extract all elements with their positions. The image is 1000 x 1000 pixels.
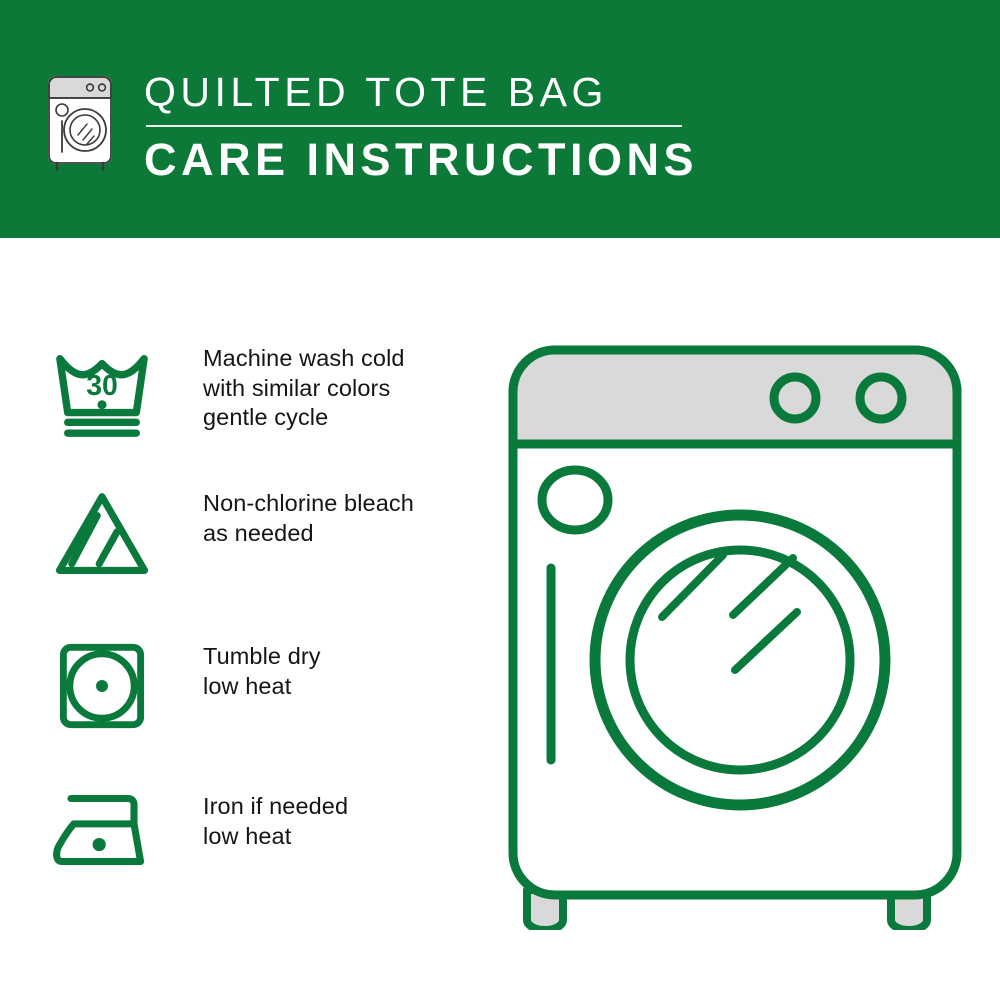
page-title-primary: QUILTED TOTE BAG [144,66,704,118]
header-title-block: QUILTED TOTE BAG CARE INSTRUCTIONS [144,66,704,187]
care-instruction-text: Iron if needed low heat [203,790,348,851]
header-banner: QUILTED TOTE BAG CARE INSTRUCTIONS [0,0,1000,238]
tumble-dry-icon [48,640,156,732]
care-instruction-row: Non-chlorine bleach as needed [48,487,414,582]
care-instruction-row: Iron if needed low heat [48,790,348,870]
wash-tub-icon: 30 [48,342,156,440]
washing-machine-illustration [495,330,975,930]
care-instruction-text: Machine wash cold with similar colors ge… [203,342,405,433]
iron-icon [48,790,156,870]
washing-machine-icon [45,72,115,172]
care-instructions-infographic: QUILTED TOTE BAG CARE INSTRUCTIONS 30 Ma… [0,0,1000,1000]
bleach-triangle-icon [48,487,156,582]
title-divider [146,125,682,127]
wash-temperature-label: 30 [86,370,118,402]
page-title-secondary: CARE INSTRUCTIONS [144,133,704,187]
care-instruction-row: Tumble dry low heat [48,640,321,732]
care-instruction-text: Non-chlorine bleach as needed [203,487,414,548]
care-instruction-text: Tumble dry low heat [203,640,321,701]
care-instruction-row: 30 Machine wash cold with similar colors… [48,342,405,440]
